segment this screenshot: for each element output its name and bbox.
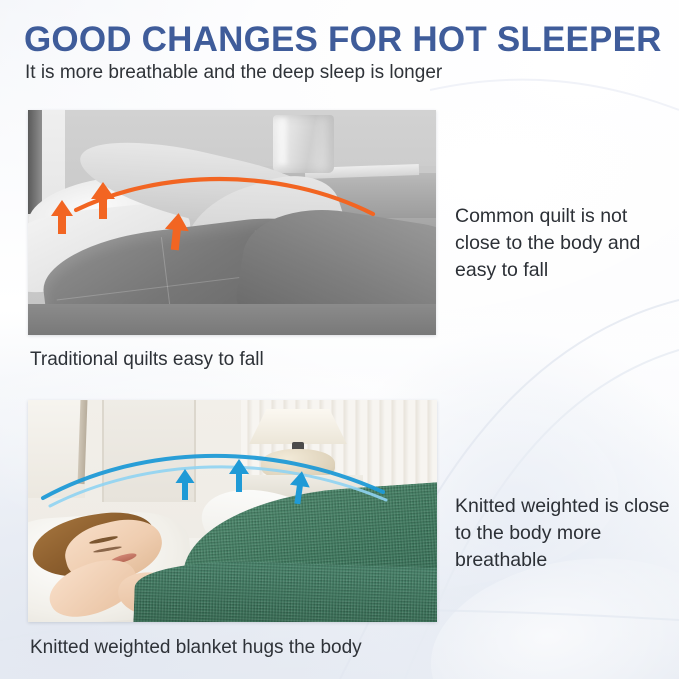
gap-arrows-overlay-top	[28, 110, 436, 335]
photo-knitted-weighted	[28, 400, 437, 622]
side-text-knitted-weighted: Knitted weighted is close to the body mo…	[455, 493, 670, 574]
caption-knitted-weighted: Knitted weighted blanket hugs the body	[30, 636, 362, 659]
promo-page: GOOD CHANGES FOR HOT SLEEPER It is more …	[0, 0, 679, 679]
side-text-common-quilt: Common quilt is not close to the body an…	[455, 203, 670, 284]
contour-arrows-overlay-bottom	[28, 400, 437, 622]
page-title: GOOD CHANGES FOR HOT SLEEPER	[24, 22, 664, 59]
orange-arrow-3	[163, 212, 191, 251]
caption-traditional-quilt: Traditional quilts easy to fall	[30, 348, 264, 371]
orange-arrow-1	[51, 200, 73, 234]
blue-arrow-1	[176, 469, 195, 500]
blue-arrow-2	[229, 459, 249, 492]
page-subtitle: It is more breathable and the deep sleep…	[25, 62, 665, 85]
photo-traditional-quilt	[28, 110, 436, 335]
